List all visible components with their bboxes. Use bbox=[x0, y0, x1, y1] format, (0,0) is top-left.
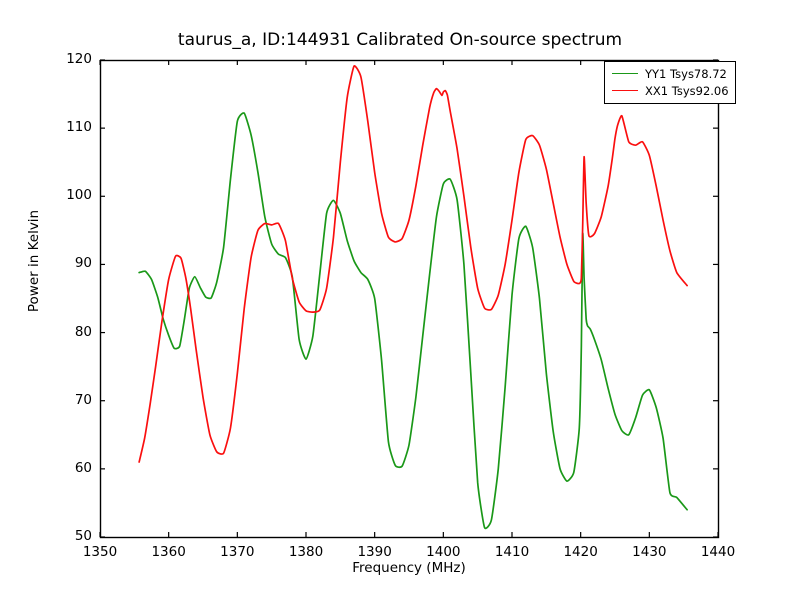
x-axis-label: Frequency (MHz) bbox=[100, 560, 718, 576]
x-tick-label: 1410 bbox=[482, 544, 542, 560]
legend-entry-xx1[interactable]: XX1 Tsys92.06 bbox=[610, 82, 729, 99]
series-group bbox=[139, 66, 687, 528]
y-tick-label: 100 bbox=[52, 187, 92, 203]
y-tick-label: 80 bbox=[52, 324, 92, 340]
x-tick-label: 1420 bbox=[551, 544, 611, 560]
x-tick-label: 1430 bbox=[619, 544, 679, 560]
legend-label: XX1 Tsys92.06 bbox=[645, 84, 729, 98]
spectrum-figure: taurus_a, ID:144931 Calibrated On-source… bbox=[0, 0, 800, 600]
x-tick-label: 1370 bbox=[207, 544, 267, 560]
x-tick-label: 1360 bbox=[139, 544, 199, 560]
y-tick-label: 70 bbox=[52, 392, 92, 408]
y-tick-label: 50 bbox=[52, 528, 92, 544]
y-axis-label: Power in Kelvin bbox=[26, 41, 42, 481]
legend-color-swatch bbox=[612, 73, 638, 74]
x-tick-label: 1390 bbox=[345, 544, 405, 560]
x-tick-label: 1440 bbox=[688, 544, 748, 560]
x-tick-label: 1400 bbox=[413, 544, 473, 560]
legend-entry-yy1[interactable]: YY1 Tsys78.72 bbox=[610, 65, 729, 82]
x-tick-label: 1380 bbox=[276, 544, 336, 560]
y-tick-label: 120 bbox=[52, 51, 92, 67]
y-tick-label: 110 bbox=[52, 119, 92, 135]
series-line-1 bbox=[139, 113, 687, 528]
y-tick-label: 90 bbox=[52, 255, 92, 271]
legend: YY1 Tsys78.72XX1 Tsys92.06 bbox=[604, 61, 736, 104]
legend-label: YY1 Tsys78.72 bbox=[645, 67, 727, 81]
y-tick-label: 60 bbox=[52, 460, 92, 476]
legend-color-swatch bbox=[612, 90, 638, 91]
x-tick-label: 1350 bbox=[70, 544, 130, 560]
